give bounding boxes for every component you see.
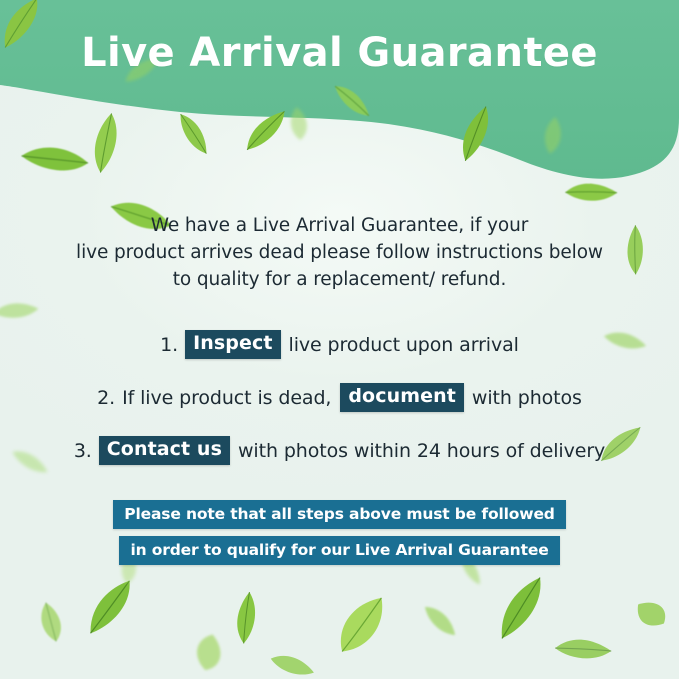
- notice-line-1: Please note that all steps above must be…: [113, 500, 566, 529]
- document-badge[interactable]: document: [340, 383, 464, 412]
- intro-line-3: to quality for a replacement/ refund.: [60, 266, 619, 293]
- step-lead-text: If live product is dead,: [122, 387, 340, 409]
- steps-list: 1. Inspect live product upon arrival 2. …: [0, 318, 679, 477]
- step-item-1: 1. Inspect live product upon arrival: [0, 318, 679, 371]
- intro-paragraph: We have a Live Arrival Guarantee, if you…: [60, 212, 619, 293]
- notice-banner: Please note that all steps above must be…: [0, 500, 679, 565]
- inspect-badge[interactable]: Inspect: [185, 330, 280, 359]
- step-text: with photos: [464, 387, 582, 409]
- intro-line-2: live product arrives dead please follow …: [60, 239, 619, 266]
- step-text: live product upon arrival: [281, 334, 519, 356]
- step-item-2: 2. If live product is dead, document wit…: [0, 371, 679, 424]
- intro-line-1: We have a Live Arrival Guarantee, if you…: [60, 212, 619, 239]
- step-text: with photos within 24 hours of delivery: [230, 440, 605, 462]
- step-number: 2.: [97, 387, 122, 409]
- notice-line-2: in order to qualify for our Live Arrival…: [119, 536, 559, 565]
- step-number: 3.: [74, 440, 99, 462]
- live-arrival-guarantee-poster: Live Arrival Guarantee: [0, 0, 679, 679]
- contact-us-badge[interactable]: Contact us: [99, 436, 230, 465]
- poster-content: We have a Live Arrival Guarantee, if you…: [0, 0, 679, 679]
- step-number: 1.: [160, 334, 185, 356]
- step-item-3: 3. Contact us with photos within 24 hour…: [0, 424, 679, 477]
